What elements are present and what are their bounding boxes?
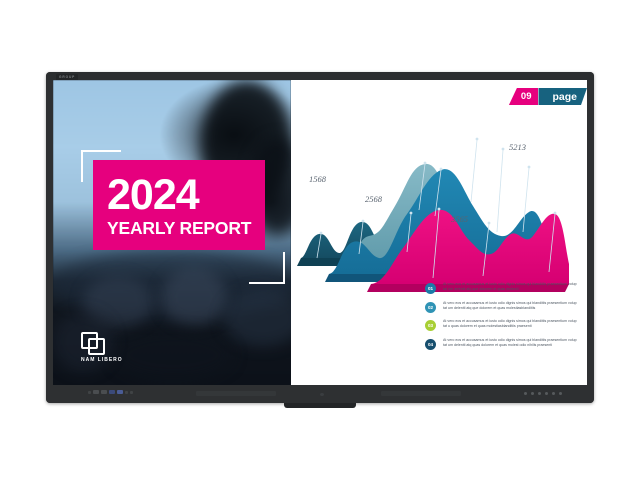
display-stand-nub bbox=[284, 403, 356, 408]
legend-item: 01 At vero eos et accusamus et iusto odi… bbox=[425, 282, 577, 294]
back-button-icon[interactable] bbox=[130, 391, 133, 394]
legend-number-badge: 01 bbox=[425, 283, 436, 294]
area-chart: 1568 2568 3565 5213 bbox=[291, 106, 587, 296]
indicator-dot[interactable] bbox=[531, 392, 534, 395]
chart-svg bbox=[291, 106, 587, 296]
bezel-indicator-dots[interactable] bbox=[524, 392, 562, 395]
cover-title-block: 2024 YEARLY REPORT bbox=[93, 160, 265, 250]
volume-up-button-icon[interactable] bbox=[117, 390, 123, 394]
chart-value-label-3: 3565 bbox=[451, 214, 468, 224]
legend-description: At vero eos et accusamus et iusto odio d… bbox=[443, 338, 577, 348]
interactive-display-device: GROUP 2024 YEARLY REPORT bbox=[46, 72, 594, 403]
legend-description: At vero eos et accusamus et iusto odio d… bbox=[443, 319, 577, 329]
indicator-dot[interactable] bbox=[545, 392, 548, 395]
indicator-dot[interactable] bbox=[552, 392, 555, 395]
chart-legend: 01 At vero eos et accusamus et iusto odi… bbox=[425, 282, 577, 356]
chart-value-label-2: 2568 bbox=[365, 194, 382, 204]
page-label: page bbox=[538, 88, 587, 105]
home-button-icon[interactable] bbox=[125, 391, 128, 394]
page-number: 09 bbox=[509, 88, 539, 105]
photo-blur-shape bbox=[161, 268, 227, 326]
legend-item: 02 At vero eos et accusamus et iusto odi… bbox=[425, 301, 577, 313]
source-button-icon[interactable] bbox=[101, 390, 107, 394]
overlapping-squares-icon bbox=[81, 332, 103, 354]
speaker-grill-left bbox=[196, 391, 276, 396]
legend-description: At vero eos et accusamus et iusto odio d… bbox=[443, 301, 577, 311]
menu-button-icon[interactable] bbox=[93, 390, 99, 394]
corner-bracket-bottom-right bbox=[249, 252, 285, 284]
indicator-dot[interactable] bbox=[559, 392, 562, 395]
legend-item: 04 At vero eos et accusamus et iusto odi… bbox=[425, 338, 577, 350]
display-screen[interactable]: 2024 YEARLY REPORT NAM LIBERO 09 page bbox=[53, 80, 587, 385]
slide-cover-photo[interactable]: 2024 YEARLY REPORT NAM LIBERO bbox=[53, 80, 291, 385]
cover-logo-text: NAM LIBERO bbox=[81, 357, 141, 363]
legend-number-badge: 02 bbox=[425, 302, 436, 313]
page-badge: 09 page bbox=[509, 88, 587, 105]
volume-down-button-icon[interactable] bbox=[109, 390, 115, 394]
screenshot-stage: GROUP 2024 YEARLY REPORT bbox=[0, 0, 640, 480]
display-bottom-bezel bbox=[46, 385, 594, 403]
cover-subtitle: YEARLY REPORT bbox=[107, 218, 265, 238]
chart-value-label-4: 5213 bbox=[509, 142, 526, 152]
indicator-dot[interactable] bbox=[538, 392, 541, 395]
indicator-dot[interactable] bbox=[524, 392, 527, 395]
slide-infographic[interactable]: 09 page bbox=[291, 80, 587, 385]
display-top-bezel: GROUP bbox=[46, 72, 594, 80]
cover-logo: NAM LIBERO bbox=[81, 332, 141, 363]
legend-number-badge: 03 bbox=[425, 320, 436, 331]
bezel-control-cluster[interactable] bbox=[88, 390, 133, 394]
legend-description: At vero eos et accusamus et iusto odio d… bbox=[443, 282, 577, 292]
ir-sensor-icon bbox=[320, 393, 324, 396]
chart-value-label-1: 1568 bbox=[309, 174, 326, 184]
legend-number-badge: 04 bbox=[425, 339, 436, 350]
cover-year: 2024 bbox=[107, 173, 265, 217]
power-button-icon[interactable] bbox=[88, 391, 91, 394]
speaker-grill-right bbox=[381, 391, 461, 396]
legend-item: 03 At vero eos et accusamus et iusto odi… bbox=[425, 319, 577, 331]
